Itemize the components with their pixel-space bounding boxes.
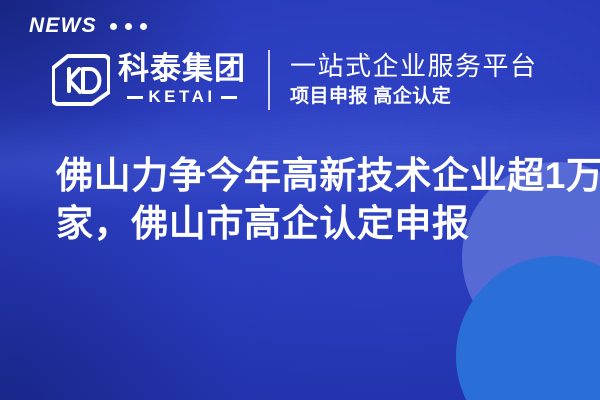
brand-name-en-row: KETAI bbox=[118, 87, 246, 107]
news-dot-icon bbox=[140, 23, 147, 30]
tagline-block: 一站式企业服务平台 项目申报 高企认定 bbox=[290, 52, 538, 108]
brand-name-en: KETAI bbox=[148, 87, 215, 107]
vertical-divider bbox=[268, 50, 270, 110]
brand-rule-left-icon bbox=[127, 96, 143, 99]
news-dots-icon bbox=[110, 23, 147, 30]
brand-lockup: 科泰集团 KETAI bbox=[118, 53, 246, 107]
tagline-main: 一站式企业服务平台 bbox=[290, 52, 538, 82]
news-dot-icon bbox=[125, 23, 132, 30]
tagline-sub: 项目申报 高企认定 bbox=[290, 86, 538, 108]
brand-rule-right-icon bbox=[221, 96, 237, 99]
headline: 佛山力争今年高新技术企业超1万 家，佛山市高企认定申报 bbox=[56, 152, 566, 248]
news-eyebrow: NEWS bbox=[29, 14, 147, 38]
news-label: NEWS bbox=[29, 14, 97, 38]
brand-name-cn: 科泰集团 bbox=[118, 53, 246, 85]
news-banner: NEWS 科泰集团 KETAI 一站式企业服务平台 项目申 bbox=[0, 0, 600, 400]
headline-line-2: 家，佛山市高企认定申报 bbox=[56, 200, 566, 248]
ketai-diamond-kd-icon bbox=[52, 51, 110, 109]
headline-line-1: 佛山力争今年高新技术企业超1万 bbox=[56, 152, 566, 200]
logo-band: 科泰集团 KETAI 一站式企业服务平台 项目申报 高企认定 bbox=[52, 44, 570, 116]
news-dot-icon bbox=[110, 23, 117, 30]
